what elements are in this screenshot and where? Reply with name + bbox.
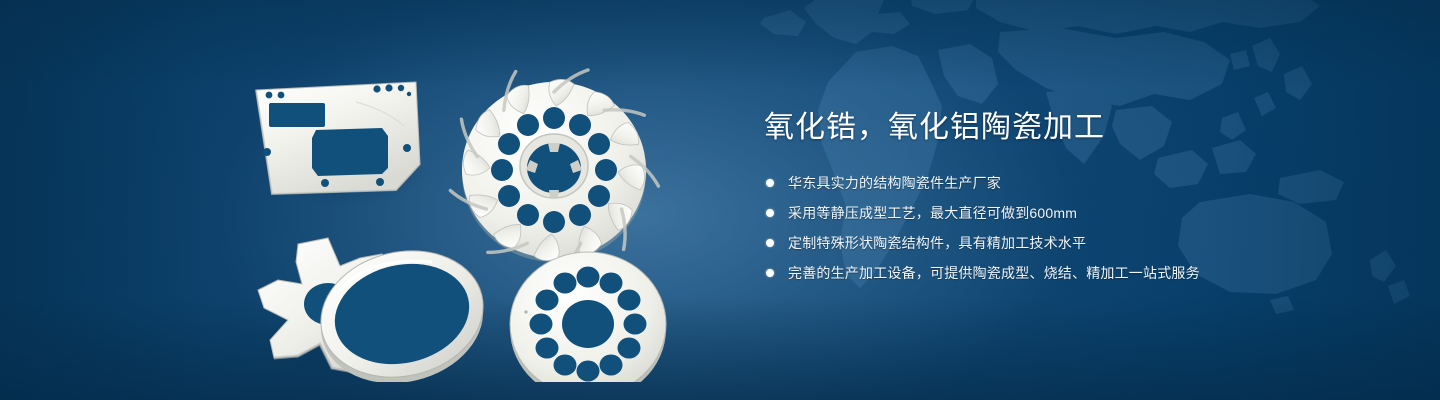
- bullet-dot-icon: [766, 269, 774, 277]
- feature-text: 华东具实力的结构陶瓷件生产厂家: [788, 175, 1001, 191]
- feature-text: 定制特殊形状陶瓷结构件，具有精加工技术水平: [788, 235, 1086, 251]
- hero-banner: 氧化锆，氧化铝陶瓷加工 华东具实力的结构陶瓷件生产厂家 采用等静压成型工艺，最大…: [0, 0, 1440, 400]
- list-item: 定制特殊形状陶瓷结构件，具有精加工技术水平: [764, 232, 1324, 254]
- feature-text: 采用等静压成型工艺，最大直径可做到600mm: [788, 205, 1077, 221]
- feature-text: 完善的生产加工设备，可提供陶瓷成型、烧结、精加工一站式服务: [788, 265, 1200, 281]
- bullet-dot-icon: [766, 209, 774, 217]
- list-item: 完善的生产加工设备，可提供陶瓷成型、烧结、精加工一站式服务: [764, 262, 1324, 284]
- banner-copy: 氧化锆，氧化铝陶瓷加工 华东具实力的结构陶瓷件生产厂家 采用等静压成型工艺，最大…: [764, 108, 1324, 284]
- ceramic-plate: [256, 82, 420, 194]
- ceramic-hole-disc: [510, 252, 666, 382]
- list-item: 华东具实力的结构陶瓷件生产厂家: [764, 172, 1324, 194]
- feature-list: 华东具实力的结构陶瓷件生产厂家 采用等静压成型工艺，最大直径可做到600mm 定…: [764, 172, 1324, 284]
- ceramic-products-image: [236, 52, 706, 382]
- list-item: 采用等静压成型工艺，最大直径可做到600mm: [764, 202, 1324, 224]
- ceramic-impeller: [450, 70, 658, 276]
- bullet-dot-icon: [766, 239, 774, 247]
- page-title: 氧化锆，氧化铝陶瓷加工: [764, 108, 1324, 148]
- bullet-dot-icon: [766, 179, 774, 187]
